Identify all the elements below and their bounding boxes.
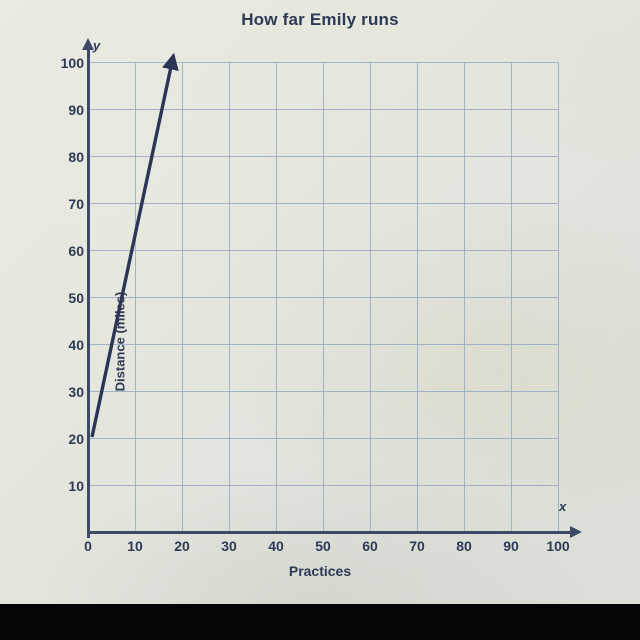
x-tick-label: 60 — [348, 538, 392, 554]
x-axis-variable-label: x — [559, 499, 566, 514]
y-tick-label: 10 — [38, 478, 84, 494]
y-tick-label: 20 — [38, 431, 84, 447]
x-tick-label: 80 — [442, 538, 486, 554]
x-axis-label: Practices — [0, 563, 640, 579]
x-tick-label: 90 — [489, 538, 533, 554]
bottom-black-bar — [0, 604, 640, 640]
x-tick-label: 50 — [301, 538, 345, 554]
page-title: How far Emily runs — [0, 10, 640, 30]
grid-lines — [88, 62, 558, 532]
y-tick-label: 50 — [38, 290, 84, 306]
y-tick-label: 70 — [38, 196, 84, 212]
x-tick-label: 30 — [207, 538, 251, 554]
y-tick-label: 60 — [38, 243, 84, 259]
x-tick-label: 10 — [113, 538, 157, 554]
y-tick-label: 80 — [38, 149, 84, 165]
x-tick-label: 0 — [66, 538, 110, 554]
y-axis-variable-label: y — [93, 38, 100, 53]
y-tick-label: 30 — [38, 384, 84, 400]
x-tick-label: 70 — [395, 538, 439, 554]
y-axis-label: Distance (miles) — [113, 247, 128, 437]
x-tick-label: 40 — [254, 538, 298, 554]
x-axis-ticks: 0 10 20 30 40 50 60 70 80 90 100 — [0, 538, 640, 560]
photograph-of-graph: How far Emily runs Distance — [0, 0, 640, 604]
y-tick-label: 40 — [38, 337, 84, 353]
x-tick-label: 20 — [160, 538, 204, 554]
y-tick-label: 90 — [38, 102, 84, 118]
y-tick-label: 100 — [38, 55, 84, 71]
plot-area: Distance (miles) — [88, 62, 558, 532]
y-axis-line — [87, 48, 90, 538]
x-tick-label: 100 — [536, 538, 580, 554]
x-axis-arrow-icon — [570, 526, 582, 538]
x-axis-line — [88, 531, 572, 534]
